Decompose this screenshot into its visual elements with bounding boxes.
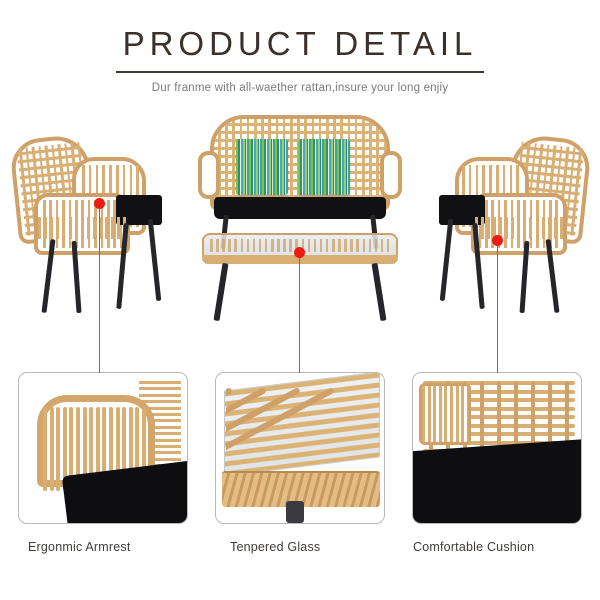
loveseat-armrest-right	[380, 151, 402, 199]
loveseat-cushion	[214, 197, 386, 219]
caption-cushion: Comfortable Cushion	[413, 540, 534, 554]
panel-armrest	[18, 372, 188, 524]
product-detail-page: PRODUCT DETAIL Dur franme with all-waeth…	[0, 0, 600, 600]
striped-pillow-right	[298, 139, 350, 195]
right-chair-seat-slats	[471, 217, 563, 239]
title-underline	[116, 71, 484, 73]
left-chair-leg-4	[148, 219, 162, 301]
caption-armrest: Ergonmic Armrest	[28, 540, 131, 554]
callout-dot-glass	[294, 247, 305, 258]
table-leg-2	[372, 263, 387, 321]
callout-dot-cushion	[492, 235, 503, 246]
striped-pillow-left	[236, 139, 288, 195]
page-title: PRODUCT DETAIL	[119, 24, 482, 68]
panel-captions: Ergonmic Armrest Tenpered Glass Comforta…	[0, 540, 600, 570]
panel-cushion	[412, 372, 582, 524]
page-subtitle: Dur franme with all-waether rattan,insur…	[0, 82, 600, 94]
cushion-panel-seat	[413, 438, 581, 523]
loveseat-armrest-left	[198, 151, 220, 199]
caption-glass: Tenpered Glass	[230, 540, 320, 554]
right-chair-leg-4	[440, 219, 454, 301]
cushion-panel-backrest	[419, 383, 471, 445]
callout-line-armrest	[99, 203, 100, 373]
right-armchair	[424, 131, 589, 321]
table-leg-1	[214, 263, 229, 321]
callout-dot-armrest	[94, 198, 105, 209]
header: PRODUCT DETAIL Dur franme with all-waeth…	[0, 24, 600, 94]
detail-panels	[0, 372, 600, 532]
left-armchair	[12, 131, 177, 321]
panel-glass	[215, 372, 385, 524]
callout-line-cushion	[497, 240, 498, 373]
left-chair-seat-slats	[38, 217, 130, 239]
callout-line-glass	[299, 252, 300, 373]
table-panel-leg	[286, 501, 304, 523]
